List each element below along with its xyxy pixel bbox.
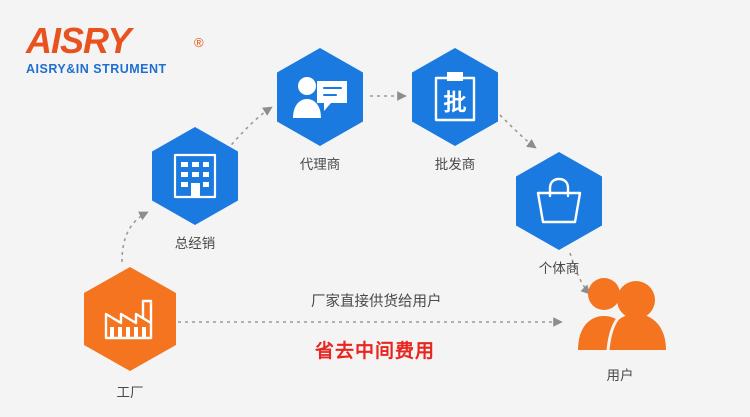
svg-text:批: 批: [444, 90, 467, 116]
annotation-direct-supply: 厂家直接供货给用户: [311, 290, 442, 311]
node-agent[interactable]: 代理商: [277, 48, 363, 173]
building-icon: [172, 152, 218, 200]
arrow-wholesaler-to-retailer: [500, 115, 536, 148]
logo-wordmark: AISRY ®: [26, 22, 130, 60]
logo-tagline: AISRY&IN STRUMENT: [26, 62, 226, 76]
brand-logo: AISRY ® AISRY&IN STRUMENT: [26, 22, 226, 84]
hex-shape-distributor: [152, 127, 238, 225]
node-retailer[interactable]: 个体商: [516, 152, 602, 277]
registered-trademark-icon: ®: [194, 24, 203, 62]
node-label-wholesaler: 批发商: [412, 153, 498, 173]
node-label-agent: 代理商: [277, 153, 363, 173]
node-label-factory: 工厂: [84, 381, 176, 401]
arrow-factory-to-distributor: [122, 212, 148, 262]
annotation-save-cost: 省去中间费用: [315, 336, 435, 363]
factory-icon: [103, 297, 157, 341]
hex-shape-wholesaler: 批: [412, 48, 498, 146]
node-label-distributor: 总经销: [152, 232, 238, 252]
agent-icon: [291, 73, 349, 121]
hex-shape-factory: [84, 267, 176, 371]
node-distributor[interactable]: 总经销: [152, 127, 238, 252]
user-person-icon: [560, 272, 680, 350]
shopping-bag-icon: [534, 177, 584, 225]
clipboard-批-icon: 批: [433, 71, 477, 123]
node-label-user: 用户: [560, 364, 680, 384]
diagram-canvas: AISRY ® AISRY&IN STRUMENT: [0, 0, 750, 417]
hex-shape-agent: [277, 48, 363, 146]
node-factory[interactable]: 工厂: [84, 267, 176, 401]
logo-brand-text: AISRY: [26, 20, 130, 61]
node-user[interactable]: 用户: [560, 272, 680, 384]
hex-shape-retailer: [516, 152, 602, 250]
node-wholesaler[interactable]: 批 批发商: [412, 48, 498, 173]
